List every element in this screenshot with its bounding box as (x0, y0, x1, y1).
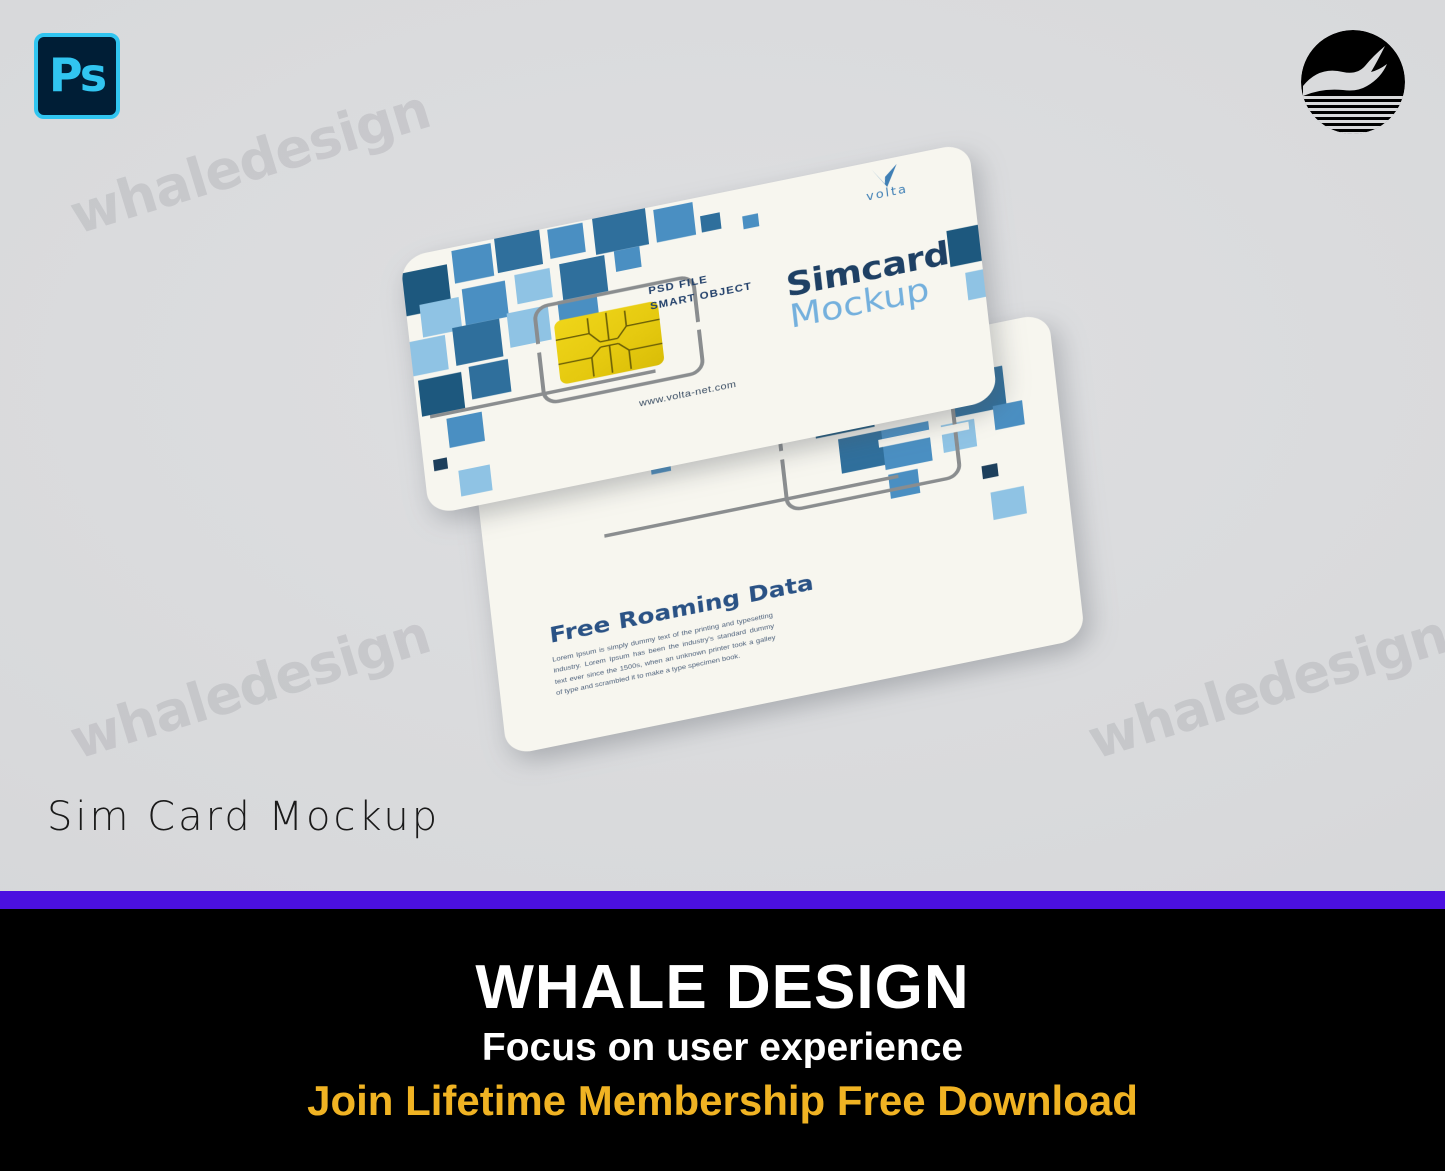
pixel-square (404, 335, 449, 378)
pixel-square (671, 188, 686, 202)
pixel-square (965, 266, 997, 300)
pixel-square (458, 464, 492, 496)
pixel-square (462, 281, 509, 326)
pixel-square (700, 212, 721, 232)
pixel-square (742, 213, 759, 229)
pixel-square (981, 463, 998, 479)
pixel-square (653, 202, 696, 243)
simcard-title-block: Simcard Mockup (784, 238, 954, 333)
pixel-square (433, 457, 448, 471)
sim-punchout-line (604, 475, 898, 538)
pixel-square (446, 412, 485, 448)
pixel-square (494, 228, 543, 273)
brand-title: WHALE DESIGN (475, 953, 969, 1022)
pixel-square (946, 222, 993, 267)
pixel-square (591, 201, 649, 255)
pixel-square (547, 223, 586, 259)
pixel-square (990, 486, 1026, 520)
pixel-square (469, 359, 512, 400)
mockup-preview-area: whaledesign whaledesign whaledesign Ps (0, 0, 1445, 891)
website-url: www.volta-net.com (639, 379, 737, 409)
brand-tagline: Focus on user experience (482, 1024, 963, 1073)
page-root: whaledesign whaledesign whaledesign Ps (0, 0, 1445, 1171)
sim-card-mockup: 5G Free Roaming Data (0, 0, 1445, 891)
page-title: Sim Card Mockup (47, 794, 440, 840)
pixel-square (451, 243, 494, 284)
accent-divider (0, 891, 1445, 909)
pixel-square (452, 319, 503, 366)
roaming-info-block: Free Roaming Data Lorem Ipsum is simply … (548, 569, 820, 698)
volta-brand: volta (863, 161, 908, 205)
psd-note: PSD FILE SMART OBJECT (648, 264, 753, 315)
pixel-square (993, 400, 1025, 430)
pixel-square (514, 268, 553, 304)
membership-cta[interactable]: Join Lifetime Membership Free Download (307, 1075, 1138, 1128)
pixel-square (614, 246, 642, 272)
footer-banner: WHALE DESIGN Focus on user experience Jo… (0, 909, 1445, 1171)
